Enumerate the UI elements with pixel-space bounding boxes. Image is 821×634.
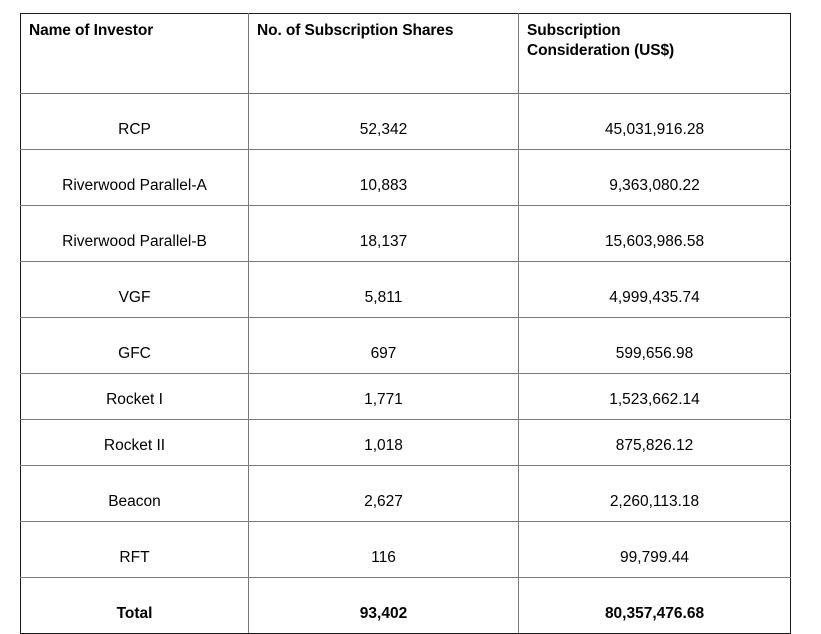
cell-subscription-shares: 2,627 — [249, 466, 519, 522]
page-root: Name of Investor No. of Subscription Sha… — [0, 0, 821, 610]
table-row: RFT 116 99,799.44 — [21, 522, 791, 578]
table-row: Riverwood Parallel-B 18,137 15,603,986.5… — [21, 206, 791, 262]
cell-investor-name: GFC — [21, 318, 249, 374]
cell-subscription-shares: 1,018 — [249, 420, 519, 466]
cell-subscription-consideration: 45,031,916.28 — [519, 94, 791, 150]
table-row: Rocket II 1,018 875,826.12 — [21, 420, 791, 466]
cell-subscription-consideration: 4,999,435.74 — [519, 262, 791, 318]
cell-subscription-consideration: 2,260,113.18 — [519, 466, 791, 522]
cell-subscription-shares: 1,771 — [249, 374, 519, 420]
cell-investor-name: Rocket I — [21, 374, 249, 420]
cell-subscription-shares: 697 — [249, 318, 519, 374]
column-header-consideration-line1: Subscription — [527, 22, 621, 39]
cell-subscription-shares: 5,811 — [249, 262, 519, 318]
cell-subscription-consideration: 599,656.98 — [519, 318, 791, 374]
cell-subscription-shares: 52,342 — [249, 94, 519, 150]
table-row: RCP 52,342 45,031,916.28 — [21, 94, 791, 150]
cell-total-shares: 93,402 — [249, 578, 519, 634]
cell-investor-name: VGF — [21, 262, 249, 318]
column-header-name-of-investor: Name of Investor — [21, 14, 249, 94]
cell-investor-name: RFT — [21, 522, 249, 578]
cell-investor-name: Riverwood Parallel-B — [21, 206, 249, 262]
column-header-subscription-shares: No. of Subscription Shares — [249, 14, 519, 94]
table-body: RCP 52,342 45,031,916.28 Riverwood Paral… — [21, 94, 791, 634]
cell-total-label: Total — [21, 578, 249, 634]
table-total-row: Total 93,402 80,357,476.68 — [21, 578, 791, 634]
column-header-consideration-line2: Consideration (US$) — [527, 42, 674, 59]
table-header-row: Name of Investor No. of Subscription Sha… — [21, 14, 791, 94]
cell-subscription-consideration: 875,826.12 — [519, 420, 791, 466]
cell-investor-name: Riverwood Parallel-A — [21, 150, 249, 206]
cell-subscription-consideration: 1,523,662.14 — [519, 374, 791, 420]
cell-investor-name: RCP — [21, 94, 249, 150]
table-row: Beacon 2,627 2,260,113.18 — [21, 466, 791, 522]
cell-subscription-consideration: 9,363,080.22 — [519, 150, 791, 206]
investor-subscription-table: Name of Investor No. of Subscription Sha… — [20, 13, 791, 634]
cell-subscription-shares: 18,137 — [249, 206, 519, 262]
cell-investor-name: Beacon — [21, 466, 249, 522]
cell-subscription-consideration: 99,799.44 — [519, 522, 791, 578]
table-row: Rocket I 1,771 1,523,662.14 — [21, 374, 791, 420]
table-row: Riverwood Parallel-A 10,883 9,363,080.22 — [21, 150, 791, 206]
cell-subscription-shares: 10,883 — [249, 150, 519, 206]
column-header-subscription-consideration: Subscription Consideration (US$) — [519, 14, 791, 94]
table-row: GFC 697 599,656.98 — [21, 318, 791, 374]
table-row: VGF 5,811 4,999,435.74 — [21, 262, 791, 318]
cell-subscription-shares: 116 — [249, 522, 519, 578]
cell-subscription-consideration: 15,603,986.58 — [519, 206, 791, 262]
cell-investor-name: Rocket II — [21, 420, 249, 466]
cell-total-consideration: 80,357,476.68 — [519, 578, 791, 634]
table-header: Name of Investor No. of Subscription Sha… — [21, 14, 791, 94]
